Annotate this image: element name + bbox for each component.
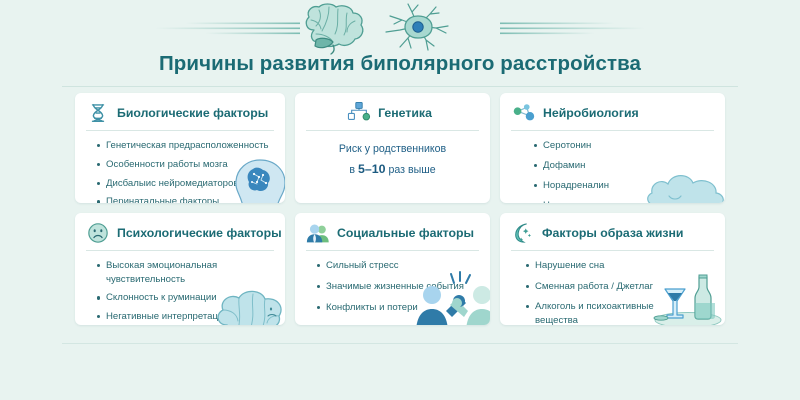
card-list: Серотонин Дофамин Норадреналин Циркадные… <box>500 131 725 203</box>
genetics-line-1: Риск у родственников <box>303 142 482 158</box>
molecule-icon <box>512 101 536 125</box>
card-list: Высокая эмоциональная чувствительность С… <box>75 251 285 325</box>
family-tree-icon <box>347 101 371 125</box>
card-title: Биологические факторы <box>117 106 268 120</box>
list-item: Норадреналин <box>534 179 715 193</box>
card-title: Генетика <box>378 106 432 120</box>
list-item: Нарушение сна <box>526 259 665 273</box>
card-header: Социальные факторы <box>295 213 490 250</box>
card-list: Генетическая предрасположенность Особенн… <box>75 131 285 203</box>
cards-row-top: Биологические факторы Генетическая предр… <box>75 93 725 203</box>
header-artwork <box>0 0 800 56</box>
speed-lines-right <box>500 23 645 35</box>
list-item: Высокая эмоциональная чувствительность <box>97 259 275 286</box>
cards-row-bottom: Психологические факторы Высокая эмоциона… <box>75 213 725 325</box>
infographic-root: Причины развития биполярного расстройств… <box>0 0 800 400</box>
cards-grid: Биологические факторы Генетическая предр… <box>75 93 725 325</box>
list-item: Негативные интерпретации событий <box>97 310 275 324</box>
card-title: Социальные факторы <box>337 226 474 240</box>
card-header: Генетика <box>295 93 490 130</box>
brain-icon <box>306 4 363 54</box>
card-header: Биологические факторы <box>75 93 285 130</box>
list-item: Сильный стресс <box>317 259 480 273</box>
title-divider <box>62 86 738 87</box>
list-item: Дофамин <box>534 159 715 173</box>
list-item: Конфликты и потери <box>317 301 480 315</box>
card-list: Нарушение сна Сменная работа / Джетлаг А… <box>500 251 725 325</box>
genetics-line-2: в 5–10 раз выше <box>303 160 482 179</box>
crescent-moon-icon <box>511 221 535 245</box>
card-biological[interactable]: Биологические факторы Генетическая предр… <box>75 93 285 203</box>
card-genetics[interactable]: Генетика Риск у родственников в 5–10 раз… <box>295 93 490 203</box>
list-item: Значимые жизненные события <box>317 280 480 294</box>
card-list: Сильный стресс Значимые жизненные событи… <box>295 251 490 315</box>
header: Причины развития биполярного расстройств… <box>0 0 800 90</box>
speed-lines-left <box>155 23 300 35</box>
dna-helix-icon <box>86 101 110 125</box>
card-lifestyle[interactable]: Факторы образа жизни Нарушение сна Сменн… <box>500 213 725 325</box>
card-header: Факторы образа жизни <box>500 213 725 250</box>
sad-face-icon <box>86 221 110 245</box>
list-item: Серотонин <box>534 139 715 153</box>
list-item: Сменная работа / Джетлаг <box>526 280 665 294</box>
card-psychological[interactable]: Психологические факторы Высокая эмоциона… <box>75 213 285 325</box>
genetics-suffix: раз выше <box>386 164 436 176</box>
list-item: Перинатальные факторы <box>97 195 275 203</box>
list-item: Алкоголь и психоактивные вещества <box>526 300 665 325</box>
list-item: Склонность к руминации <box>97 291 275 305</box>
card-title: Нейробиология <box>543 106 639 120</box>
page-title: Причины развития биполярного расстройств… <box>0 52 800 76</box>
card-title: Психологические факторы <box>117 226 282 240</box>
neuron-icon <box>386 4 448 50</box>
list-item: Особенности работы мозга <box>97 158 275 172</box>
list-item: Циркадные ритмы мозга <box>534 199 715 203</box>
card-header: Нейробиология <box>500 93 725 130</box>
card-social[interactable]: Социальные факторы Сильный стресс Значим… <box>295 213 490 325</box>
two-people-icon <box>306 221 330 245</box>
list-item: Дисбалыис нейромедиаторов <box>97 177 275 191</box>
card-title: Факторы образа жизни <box>542 226 683 240</box>
genetics-prefix: в <box>349 164 358 176</box>
genetics-body: Риск у родственников в 5–10 раз выше <box>295 131 490 179</box>
genetics-risk-value: 5–10 <box>358 162 386 176</box>
card-header: Психологические факторы <box>75 213 285 250</box>
card-neurobiology[interactable]: Нейробиология Серотонин Дофамин Норадрен… <box>500 93 725 203</box>
list-item: Генетическая предрасположенность <box>97 139 275 153</box>
footer-divider <box>62 343 738 344</box>
